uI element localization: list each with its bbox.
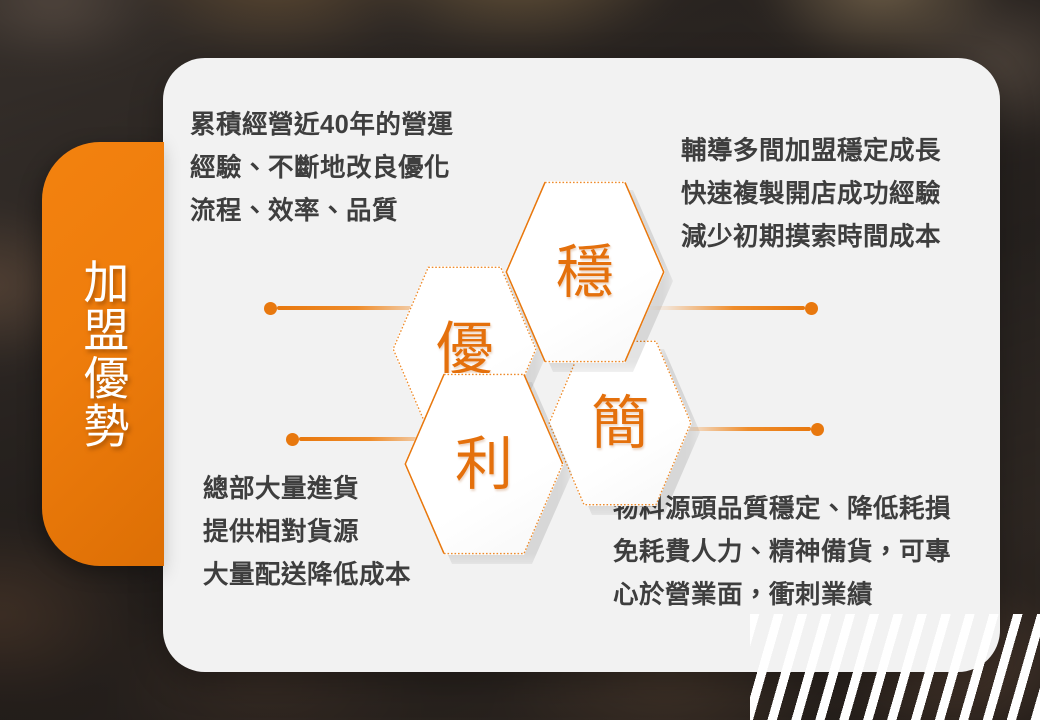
text-block-top-right: 輔導多間加盟穩定成長 快速複製開店成功經驗 減少初期摸索時間成本 bbox=[681, 130, 941, 258]
connector-bar bbox=[648, 306, 805, 310]
side-tab-title: 加盟優勢 bbox=[79, 258, 128, 450]
hexagon-li[interactable]: 利 bbox=[404, 373, 564, 555]
text-line: 心於營業面，衝刺業績 bbox=[613, 574, 951, 617]
text-block-top-left: 累積經營近40年的營運 經驗、不斷地改良優化 流程、效率、品質 bbox=[190, 104, 453, 232]
text-line: 累積經營近40年的營運 bbox=[190, 104, 453, 147]
text-line: 經驗、不斷地改良優化 bbox=[190, 147, 453, 190]
connector-dot bbox=[805, 302, 818, 315]
hexagon-label: 優 bbox=[435, 320, 493, 378]
hexagon-label: 簡 bbox=[591, 394, 649, 452]
hexagon-label: 利 bbox=[455, 435, 513, 493]
connector-dot bbox=[811, 423, 824, 436]
text-line: 總部大量進貨 bbox=[203, 468, 411, 511]
connector-dot bbox=[264, 302, 277, 315]
text-line: 流程、效率、品質 bbox=[190, 190, 453, 233]
text-line: 減少初期摸索時間成本 bbox=[681, 216, 941, 259]
text-line: 快速複製開店成功經驗 bbox=[681, 173, 941, 216]
hexagon-label: 穩 bbox=[556, 243, 614, 301]
side-tab: 加盟優勢 bbox=[42, 142, 164, 566]
text-line: 提供相對貨源 bbox=[203, 511, 411, 554]
connector-dot bbox=[286, 433, 299, 446]
text-line: 輔導多間加盟穩定成長 bbox=[681, 130, 941, 173]
text-line: 免耗費人力、精神備貨，可專 bbox=[613, 531, 951, 574]
hexagon-wen[interactable]: 穩 bbox=[505, 181, 665, 363]
slide-stage: 加盟優勢 優 簡 bbox=[0, 0, 1040, 720]
text-line: 大量配送降低成本 bbox=[203, 554, 411, 597]
text-block-bottom-left: 總部大量進貨 提供相對貨源 大量配送降低成本 bbox=[203, 468, 411, 596]
connector-top-right bbox=[648, 306, 818, 310]
